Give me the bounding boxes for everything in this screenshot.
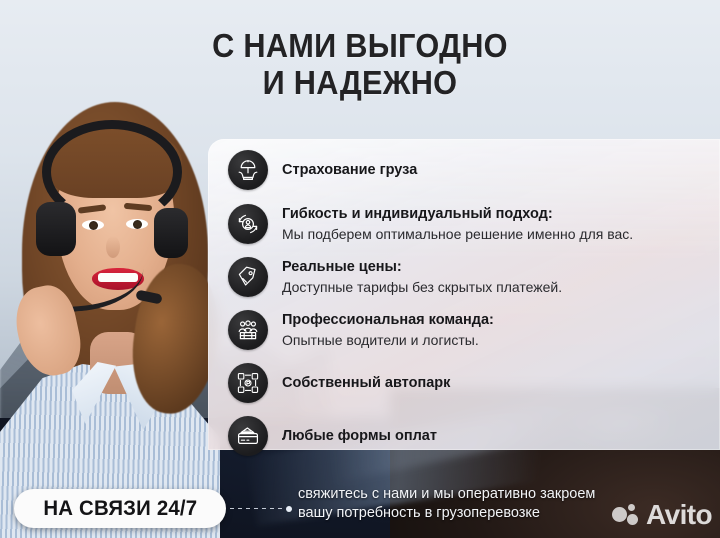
list-item-subtitle: Доступные тарифы без скрытых платежей.	[282, 278, 562, 296]
operator-photo	[0, 96, 224, 538]
avito-dot-medium	[627, 514, 638, 525]
team-people-icon	[228, 310, 268, 350]
status-badge[interactable]: НА СВЯЗИ 24/7	[14, 489, 226, 528]
cta-line-1: свяжитесь с нами и мы оперативно закроем	[298, 485, 628, 504]
list-item-title: Страхование груза	[282, 161, 417, 180]
wallet-payment-icon	[228, 416, 268, 456]
cta-line-2: вашу потребность в грузоперевозке	[298, 504, 628, 523]
list-item-text: Собственный автопарк	[282, 373, 450, 393]
list-item: Собственный автопарк	[228, 363, 706, 403]
list-item: Гибкость и индивидуальный подход: Мы под…	[228, 204, 706, 244]
headline-line-2: И НАДЕЖНО	[25, 65, 695, 102]
list-item-subtitle: Опытные водители и логисты.	[282, 331, 494, 349]
avito-watermark: Avito	[612, 498, 712, 532]
page-title: С НАМИ ВЫГОДНО И НАДЕЖНО	[25, 28, 695, 102]
list-item-title: Реальные цены:	[282, 258, 562, 277]
list-item-subtitle: Мы подберем оптимальное решение именно д…	[282, 225, 633, 243]
cta-text: свяжитесь с нами и мы оперативно закроем…	[298, 485, 628, 522]
list-item: Страхование груза	[228, 150, 706, 190]
flexible-person-cycle-icon	[228, 204, 268, 244]
list-item-title: Профессиональная команда:	[282, 311, 494, 330]
list-item-text: Реальные цены: Доступные тарифы без скры…	[282, 257, 562, 296]
list-item-title: Любые формы оплат	[282, 427, 437, 446]
list-item: Реальные цены: Доступные тарифы без скры…	[228, 257, 706, 297]
connector-dot	[286, 506, 292, 512]
advertisement-banner: С НАМИ ВЫГОДНО И НАДЕЖНО Страхование гру…	[0, 0, 720, 538]
list-item-text: Профессиональная команда: Опытные водите…	[282, 310, 494, 349]
connector-dashes	[230, 508, 285, 510]
headline-line-1: С НАМИ ВЫГОДНО	[25, 28, 695, 65]
benefits-list: Страхование груза Гибкость и индивидуаль…	[228, 150, 706, 469]
avito-dot-small	[628, 504, 635, 511]
list-item-title: Собственный автопарк	[282, 374, 450, 393]
status-badge-label: НА СВЯЗИ 24/7	[43, 497, 197, 521]
list-item-title: Гибкость и индивидуальный подход:	[282, 205, 633, 224]
headset-earcup-left	[36, 202, 76, 256]
avito-dot-large	[612, 507, 627, 522]
avito-wordmark: Avito	[646, 501, 712, 529]
avito-dots-icon	[612, 503, 642, 527]
list-item-text: Гибкость и индивидуальный подход: Мы под…	[282, 204, 633, 243]
headset-earcup-right	[154, 208, 188, 258]
list-item-text: Страхование груза	[282, 160, 417, 180]
list-item-text: Любые формы оплат	[282, 426, 437, 446]
list-item: Любые формы оплат	[228, 416, 706, 456]
badge-connector-line	[230, 507, 292, 510]
umbrella-hands-icon	[228, 150, 268, 190]
truck-fleet-parking-icon	[228, 363, 268, 403]
price-tag-icon	[228, 257, 268, 297]
list-item: Профессиональная команда: Опытные водите…	[228, 310, 706, 350]
